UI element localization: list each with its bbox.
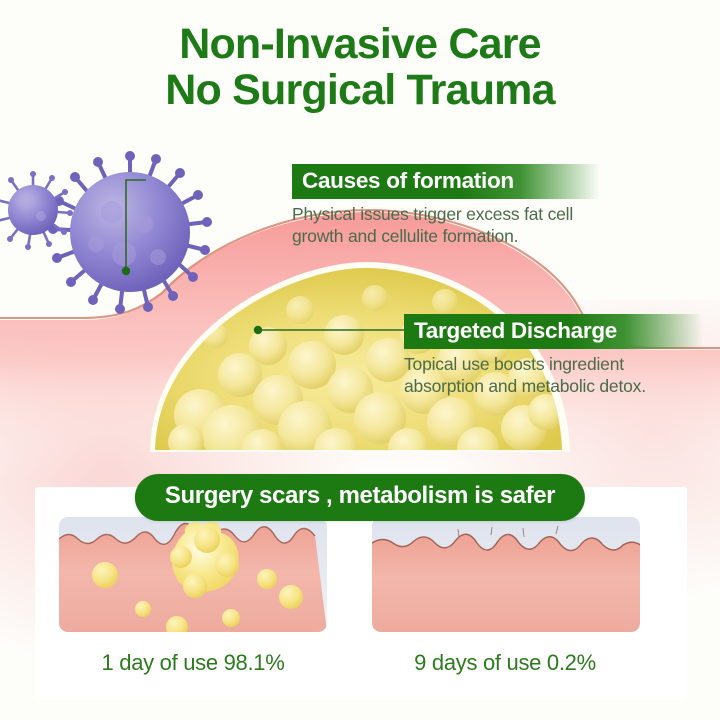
callout-causes-heading: Causes of formation bbox=[292, 164, 600, 199]
callout-causes-body: Physical issues trigger excess fat cell … bbox=[292, 203, 600, 247]
caption-after-use: 9 days of use 0.2% bbox=[355, 650, 655, 676]
callout-discharge-body: Topical use boosts ingredient absorption… bbox=[404, 353, 703, 397]
callout-discharge-heading: Targeted Discharge bbox=[404, 314, 703, 349]
caption-before-use: 1 day of use 98.1% bbox=[43, 650, 343, 676]
page-title: Non-Invasive Care No Surgical Trauma bbox=[0, 22, 720, 113]
callout-causes-of-formation: Causes of formation Physical issues trig… bbox=[292, 164, 600, 247]
callout-targeted-discharge: Targeted Discharge Topical use boosts in… bbox=[404, 314, 703, 397]
title-line-1: Non-Invasive Care bbox=[179, 20, 541, 68]
leader-dot-causes bbox=[122, 267, 130, 275]
title-line-2: No Surgical Trauma bbox=[0, 68, 720, 114]
leader-dot-discharge bbox=[254, 326, 262, 334]
panel-after-use bbox=[372, 517, 642, 632]
fat-cell-virus-small bbox=[0, 171, 73, 250]
surgery-scars-banner: Surgery scars , metabolism is safer bbox=[135, 474, 585, 521]
panel-before-use bbox=[59, 517, 327, 638]
infographic-root: Non-Invasive Care No Surgical Trauma bbox=[0, 0, 720, 720]
